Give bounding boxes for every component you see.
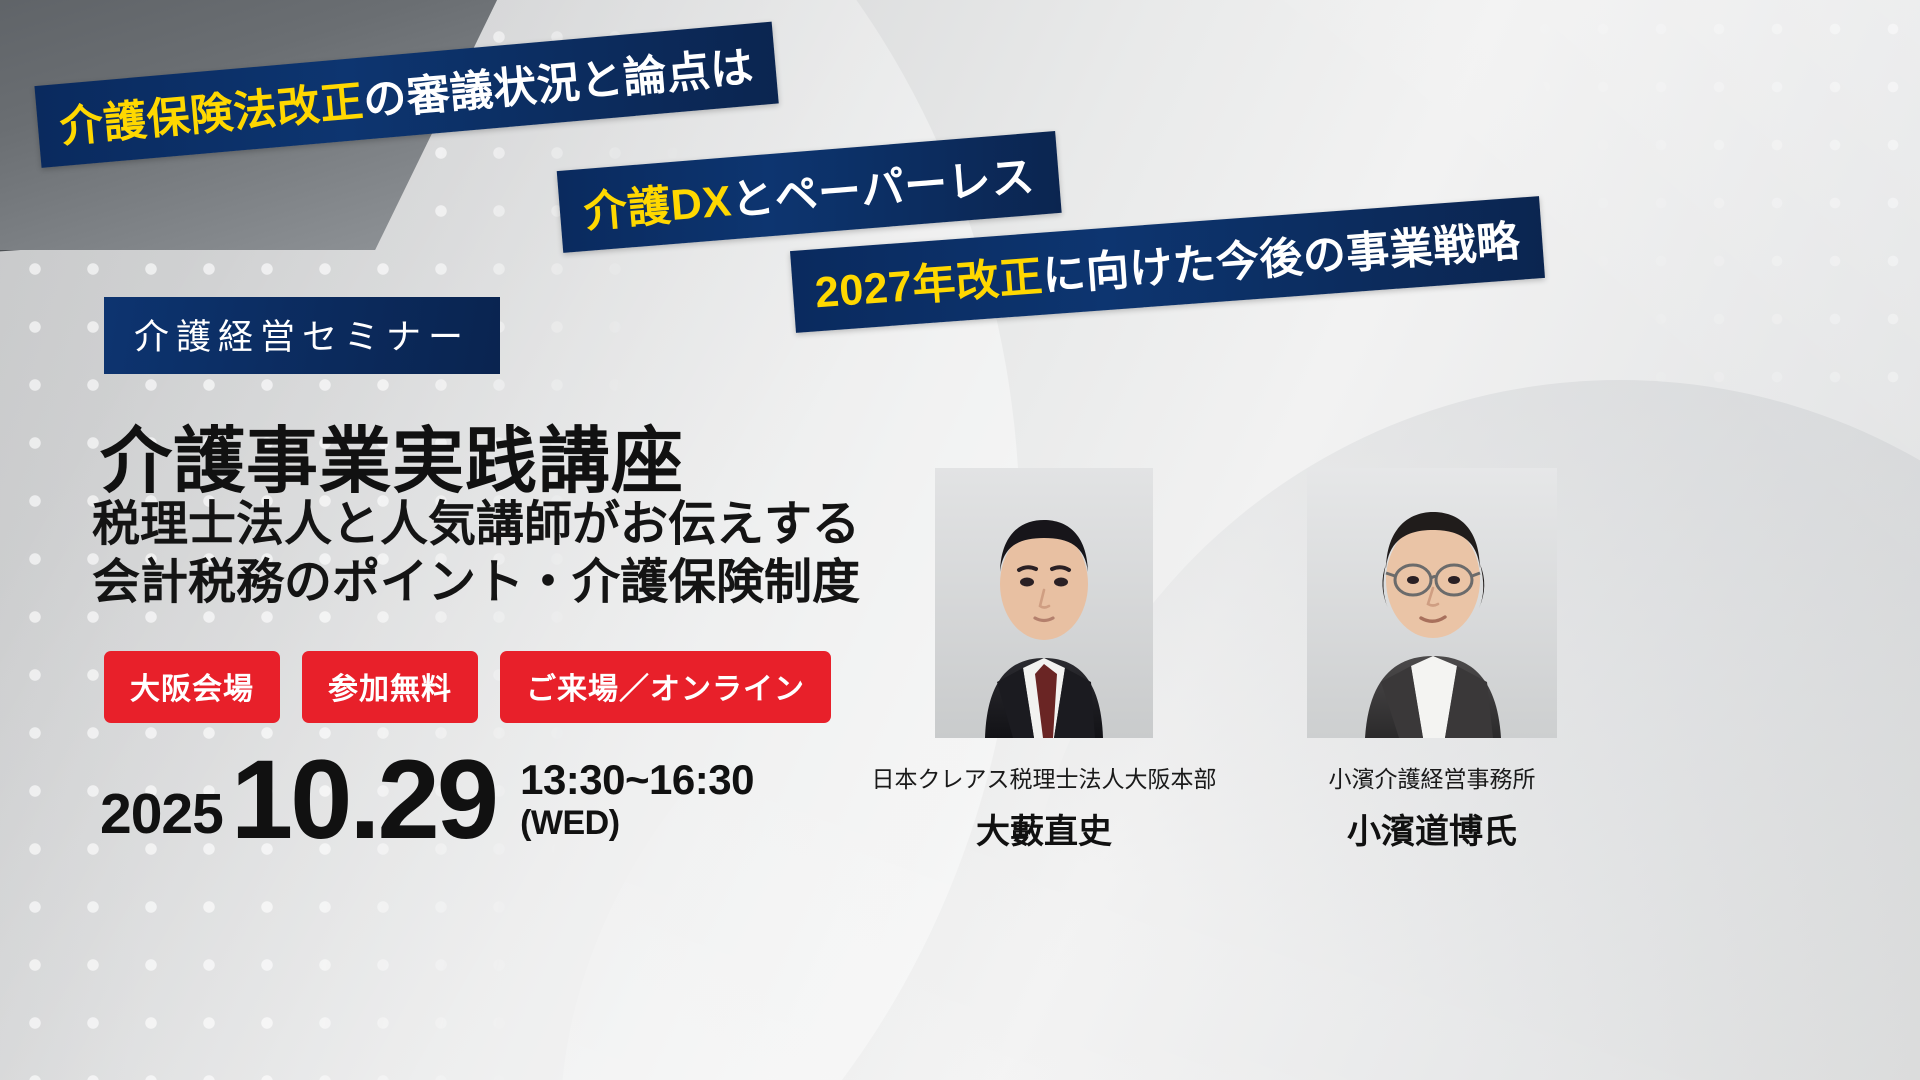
event-date-block: 2025 10.29 13:30~16:30 (WED): [100, 748, 754, 851]
subtitle-block: 税理士法人と人気講師がお伝えする 会計税務のポイント・介護保険制度: [92, 496, 860, 611]
badge-group: 大阪会場 参加無料 ご来場／オンライン: [104, 651, 831, 723]
seminar-banner: 介護保険法改正の審議状況と論点は 介護DX とペーパーレス 2027年改正に向け…: [0, 0, 1920, 1080]
badge-venue: 大阪会場: [104, 651, 280, 723]
seminar-category-tag: 介護経営セミナー: [104, 297, 500, 374]
speaker-card-1: 日本クレアス税理士法人大阪本部 大藪直史: [868, 468, 1220, 853]
speaker-1-portrait-icon: [935, 468, 1153, 738]
speaker-2-portrait-icon: [1307, 468, 1557, 738]
event-time-block: 13:30~16:30 (WED): [520, 756, 754, 851]
ribbon-2-rest: とペーパーレス: [729, 142, 1037, 228]
ribbon-2-highlight: 介護DX: [581, 166, 733, 240]
speaker-1-name: 大藪直史: [868, 804, 1220, 853]
speaker-card-2: 小濱介護経営事務所 小濱道博氏: [1256, 468, 1608, 853]
page-title: 介護事業実践講座: [100, 402, 684, 507]
event-day: 10.29: [231, 748, 496, 851]
event-year: 2025: [100, 781, 223, 851]
speaker-2-photo: [1307, 468, 1557, 738]
event-weekday: (WED): [520, 804, 754, 843]
event-time: 13:30~16:30: [520, 756, 754, 804]
subtitle-line-2: 会計税務のポイント・介護保険制度: [92, 554, 860, 612]
badge-format: ご来場／オンライン: [500, 651, 831, 723]
ribbon-1-highlight: 介護保険法改正: [57, 67, 366, 155]
speaker-1-photo: [935, 468, 1153, 738]
speaker-2-name: 小濱道博氏: [1256, 804, 1608, 853]
subtitle-line-1: 税理士法人と人気講師がお伝えする: [92, 496, 860, 554]
speaker-2-org: 小濱介護経営事務所: [1256, 760, 1608, 794]
speaker-1-org: 日本クレアス税理士法人大阪本部: [868, 760, 1220, 794]
ribbon-3-highlight: 2027年改正: [813, 242, 1045, 321]
badge-free: 参加無料: [302, 651, 478, 723]
